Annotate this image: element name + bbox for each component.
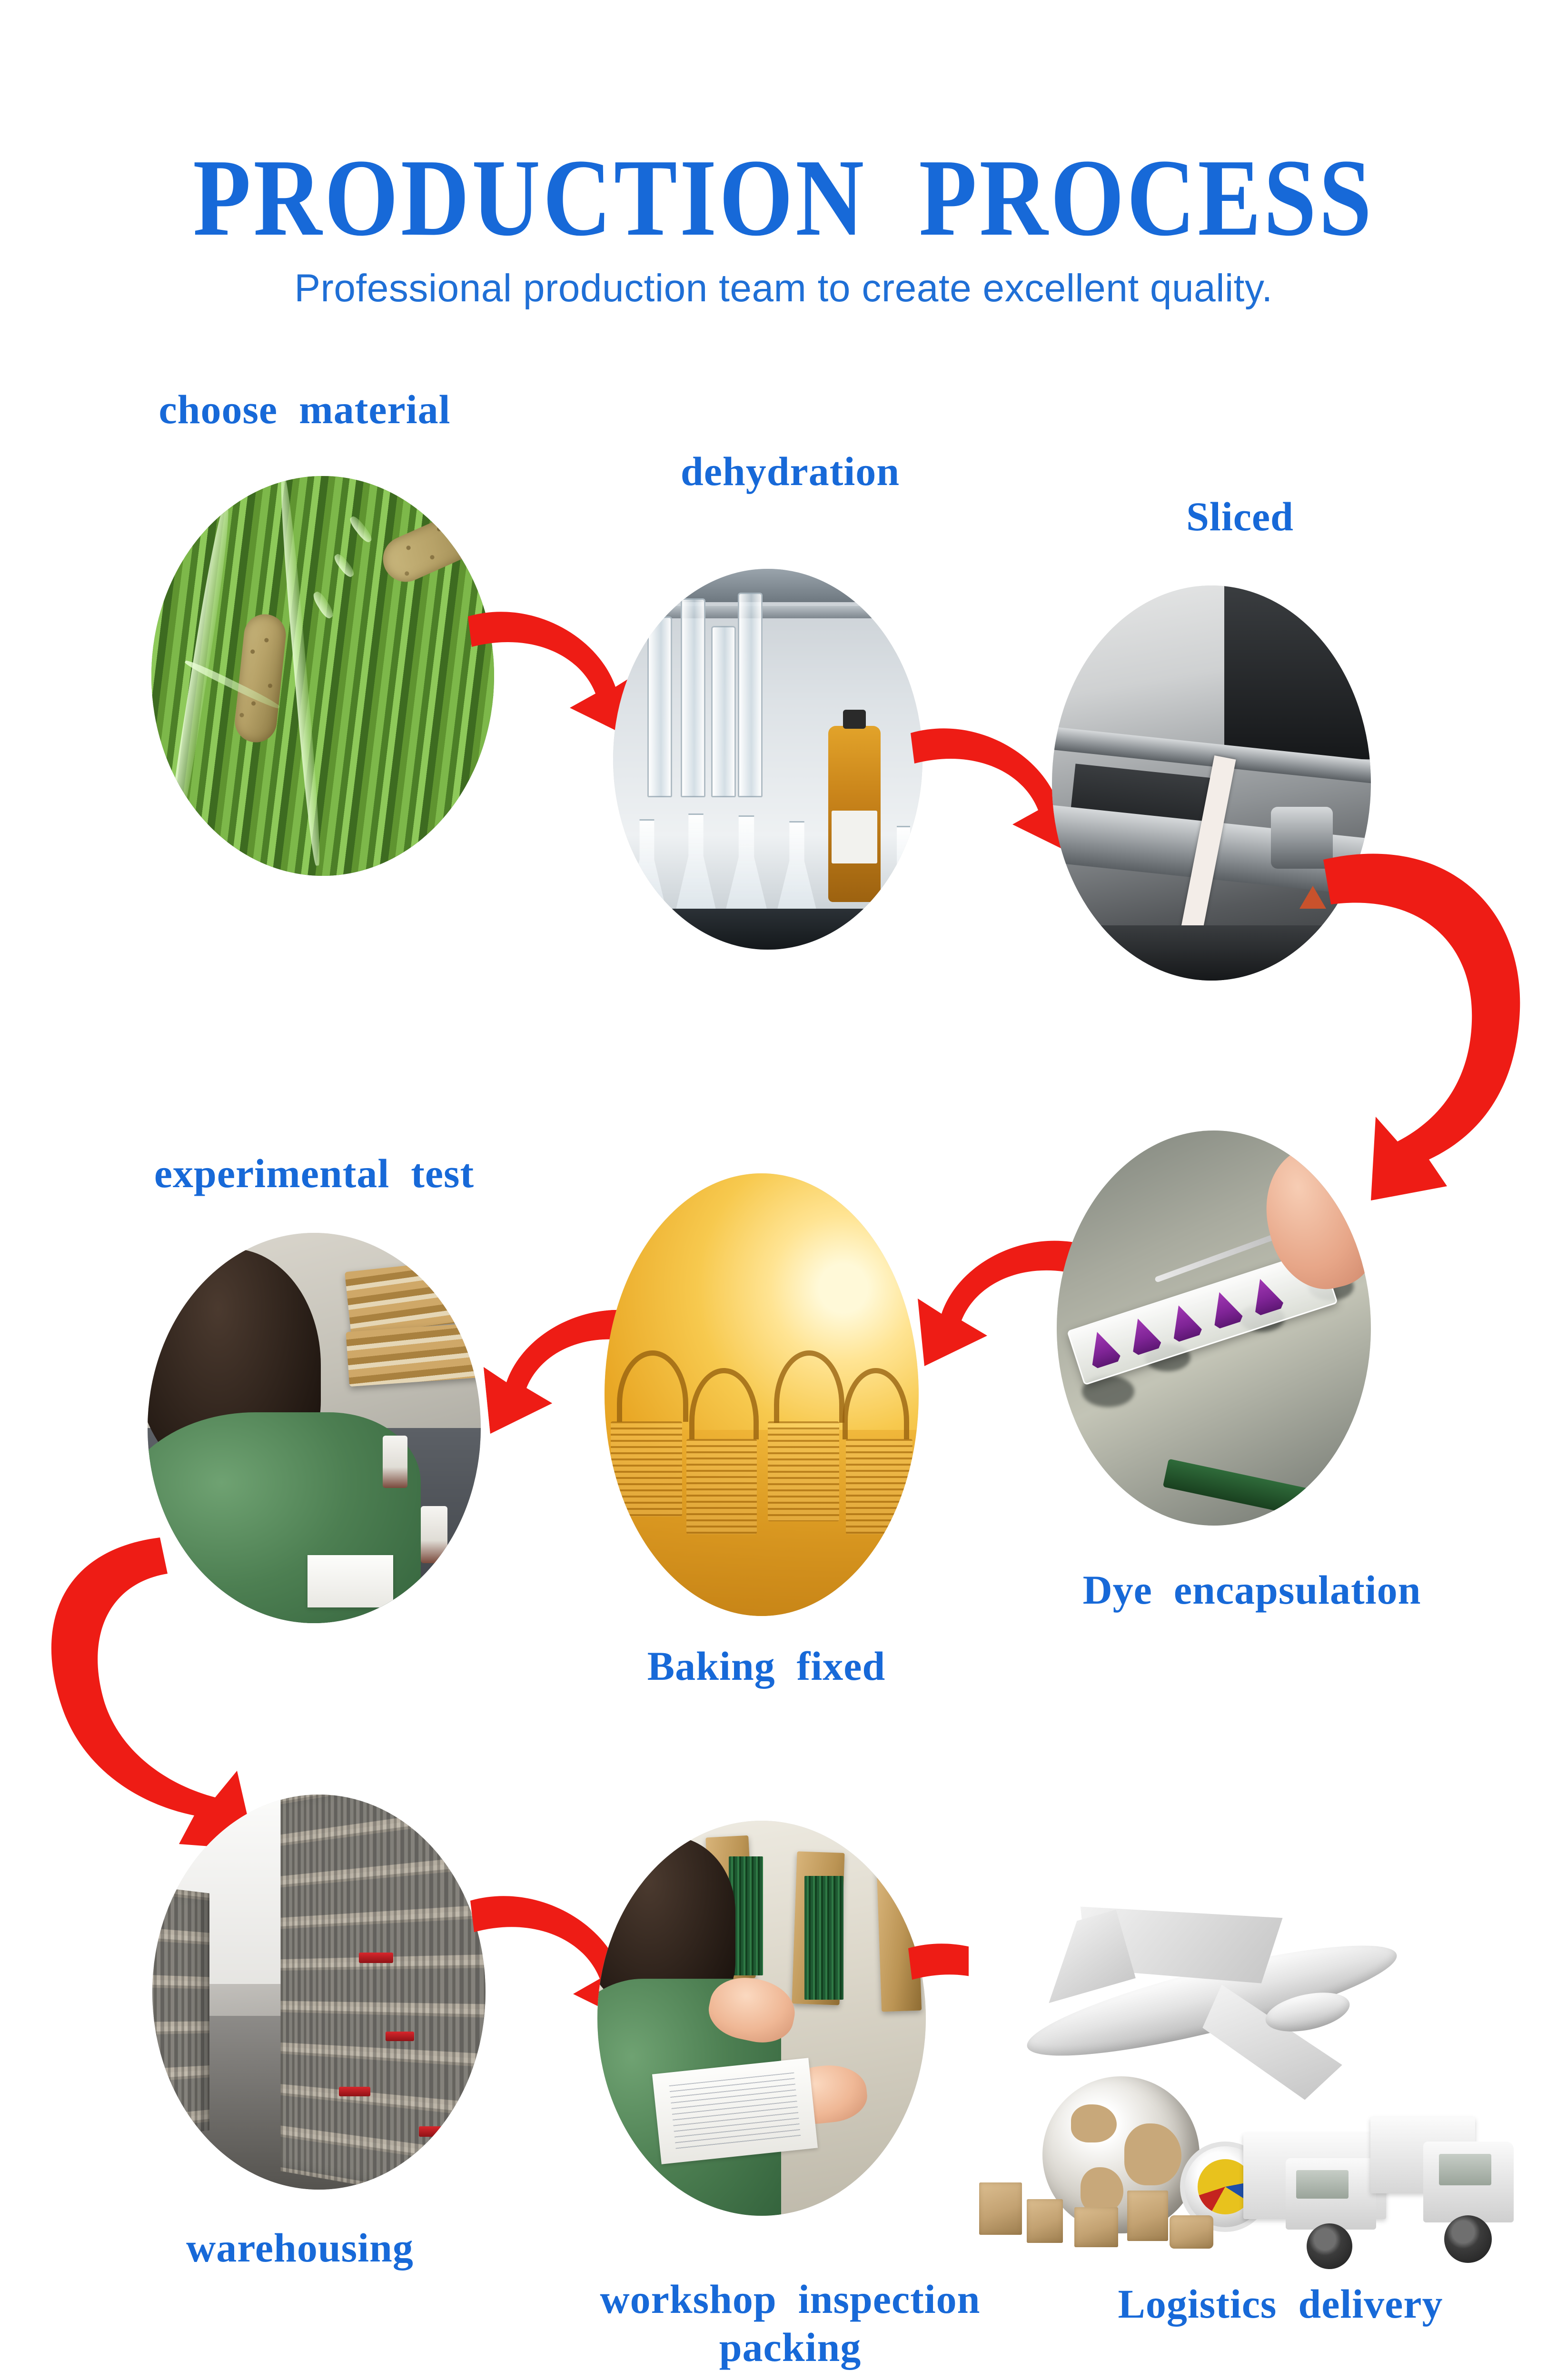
lab-notes-paper <box>307 1555 393 1607</box>
delivery-van-window <box>1296 2170 1349 2199</box>
cargo-truck-window <box>1439 2154 1491 2185</box>
step-photo-baking-fixed <box>605 1173 919 1616</box>
graduated-cylinder-3 <box>711 626 736 797</box>
step-label-logistics-delivery: Logistics delivery <box>1052 2280 1509 2328</box>
slide-stack-2 <box>804 1876 843 2000</box>
graduated-cylinder-2 <box>681 598 705 797</box>
step-label-sliced: Sliced <box>1097 493 1383 541</box>
subtitle-wrap: Professional production team to create e… <box>0 269 1567 308</box>
step-photo-logistics-delivery <box>969 1847 1497 2256</box>
slide-rack-grid-4 <box>846 1439 912 1534</box>
page-title: PRODUCTION PROCESS <box>109 143 1457 253</box>
lab-bench-edge <box>613 909 922 950</box>
step-label-experimental-test: experimental test <box>109 1150 519 1198</box>
production-process-infographic: PRODUCTION PROCESS Professional producti… <box>0 0 1567 2380</box>
page-subtitle: Professional production team to create e… <box>0 269 1567 308</box>
step-label-dehydration: dehydration <box>609 447 971 496</box>
inspection-record-sheet <box>652 2058 818 2164</box>
warehouse-red-box-4 <box>419 2126 451 2137</box>
slide-rack-grid-3 <box>768 1421 839 1521</box>
step-photo-workshop-inspection-packing <box>597 1821 926 2216</box>
step-label-workshop-inspection-packing: workshop inspection packing <box>538 2275 1042 2372</box>
step-photo-dehydration <box>613 569 922 950</box>
header: PRODUCTION PROCESS <box>0 143 1567 253</box>
carton-1 <box>979 2182 1022 2235</box>
globe-landmass-3 <box>1081 2167 1123 2213</box>
globe <box>1042 2076 1200 2233</box>
graduated-cylinder-1 <box>647 616 672 797</box>
globe-landmass-2 <box>1124 2123 1181 2185</box>
cargo-truck-wheel <box>1444 2215 1492 2263</box>
dye-sample-5 <box>1246 1274 1285 1317</box>
dye-sample-2 <box>1124 1314 1163 1357</box>
warehouse-shelf-rack-main <box>281 1795 486 2190</box>
dropper-bottle <box>421 1506 447 1563</box>
graduated-cylinder-4 <box>738 593 763 797</box>
step-photo-choose-material <box>151 476 494 876</box>
carton-5 <box>1170 2215 1213 2249</box>
carton-4 <box>1127 2191 1168 2241</box>
globe-landmass-1 <box>1071 2104 1117 2142</box>
step-photo-dye-encapsulation <box>1057 1130 1371 1526</box>
dye-sample-3 <box>1165 1301 1204 1343</box>
step-label-dye-encapsulation: Dye encapsulation <box>1028 1566 1476 1614</box>
warehouse-shelf-rack-left <box>152 1885 209 2139</box>
slide-rack-grid-2 <box>686 1439 757 1534</box>
amber-reagent-bottle <box>828 726 881 902</box>
machine-dark-panel <box>1224 585 1371 759</box>
delivery-van-wheel <box>1307 2223 1352 2269</box>
warehouse-red-box-1 <box>359 1953 393 1963</box>
record-sheet-lines <box>669 2072 801 2150</box>
warehouse-red-box-2 <box>386 2032 414 2041</box>
dye-sample-1 <box>1083 1328 1122 1370</box>
warehouse-red-box-3 <box>339 2087 370 2096</box>
step-photo-warehousing <box>152 1795 486 2190</box>
step-label-choose-material: choose material <box>124 386 486 434</box>
lab-shelf-top <box>613 569 922 602</box>
carton-2 <box>1027 2199 1063 2243</box>
step-label-baking-fixed: Baking fixed <box>590 1642 942 1690</box>
carton-3 <box>1074 2207 1118 2247</box>
slide-rack-grid-1 <box>611 1421 682 1517</box>
step-label-warehousing: warehousing <box>133 2224 466 2272</box>
dye-sample-4 <box>1205 1288 1244 1330</box>
reagent-vial <box>383 1436 407 1488</box>
